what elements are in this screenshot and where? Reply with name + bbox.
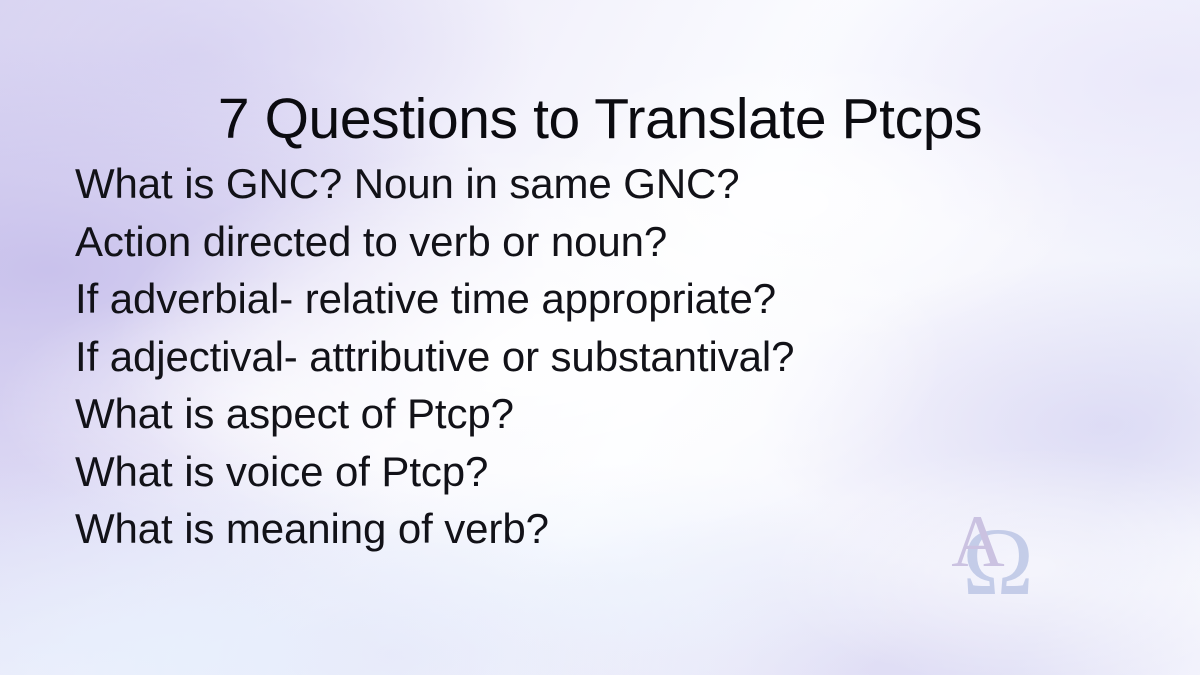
list-item: If adjectival- attributive or substantiv…: [75, 328, 1135, 386]
list-item: Action directed to verb or noun?: [75, 213, 1135, 271]
list-item: What is aspect of Ptcp?: [75, 385, 1135, 443]
question-list: What is GNC? Noun in same GNC? Action di…: [75, 155, 1135, 558]
presentation-slide: Ω Α 7 Questions to Translate Ptcps What …: [0, 0, 1200, 675]
list-item: What is GNC? Noun in same GNC?: [75, 155, 1135, 213]
list-item: What is voice of Ptcp?: [75, 443, 1135, 501]
list-item: If adverbial- relative time appropriate?: [75, 270, 1135, 328]
page-title: 7 Questions to Translate Ptcps: [0, 85, 1200, 153]
list-item: What is meaning of verb?: [75, 500, 1135, 558]
slide-content: 7 Questions to Translate Ptcps What is G…: [0, 0, 1200, 675]
